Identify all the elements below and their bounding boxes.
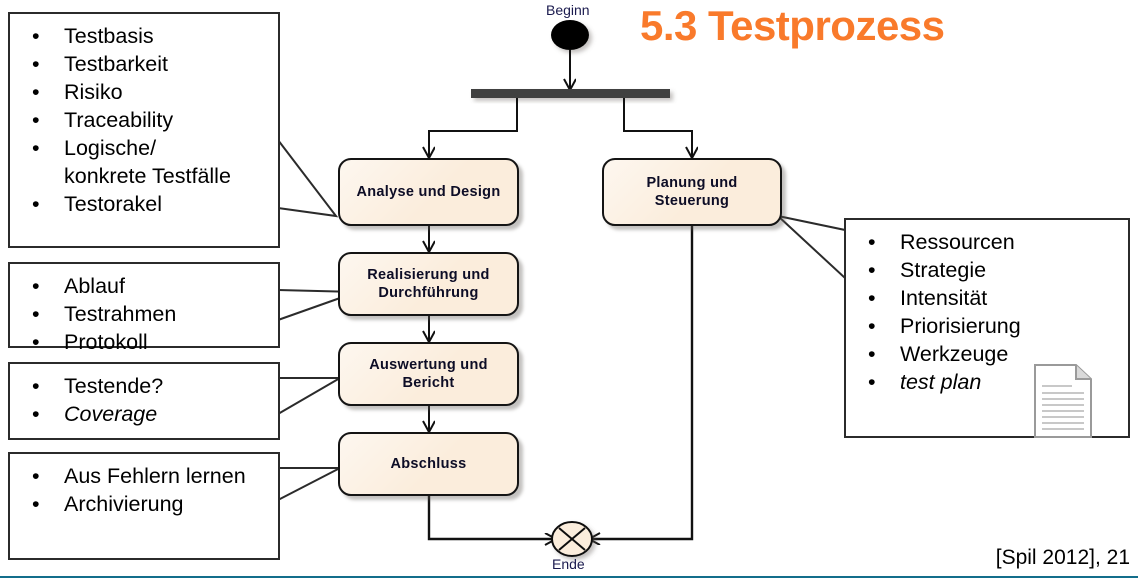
bullet-icon: • bbox=[32, 50, 40, 78]
flow-fork-to-analyse bbox=[429, 98, 517, 158]
bullet-icon: • bbox=[32, 134, 40, 162]
activity-label-line2: Steuerung bbox=[655, 193, 729, 209]
list-item-label: Coverage bbox=[64, 402, 157, 426]
tail-abschluss-note bbox=[278, 468, 340, 500]
activity-label: Analyse und Design bbox=[357, 183, 501, 201]
bullet-icon: • bbox=[32, 300, 40, 328]
list-item: •Risiko bbox=[18, 78, 268, 106]
activity-label-line1: Auswertung und bbox=[369, 357, 488, 373]
list-item-label: Testende? bbox=[64, 374, 163, 398]
list-item-label: Werkzeuge bbox=[900, 342, 1008, 366]
bullet-icon: • bbox=[32, 490, 40, 518]
document-icon bbox=[1032, 362, 1094, 440]
bullet-icon: • bbox=[32, 106, 40, 134]
list-item: •Archivierung bbox=[18, 490, 268, 518]
list-item-label: Testbasis bbox=[64, 24, 154, 48]
note-list: •Aus Fehlern lernen •Archivierung bbox=[18, 462, 268, 518]
list-item: •Strategie bbox=[854, 256, 1118, 284]
list-item-label: Ablauf bbox=[64, 274, 125, 298]
bullet-icon: • bbox=[32, 190, 40, 218]
list-item-label: Testbarkeit bbox=[64, 52, 168, 76]
note-realisierung: •Ablauf •Testrahmen •Protokoll bbox=[8, 262, 280, 348]
activity-label-line2: Durchführung bbox=[378, 285, 478, 301]
list-item: •Aus Fehlern lernen bbox=[18, 462, 268, 490]
list-item-label: Risiko bbox=[64, 80, 123, 104]
list-item: •Testbarkeit bbox=[18, 50, 268, 78]
flow-planung-to-ende bbox=[589, 226, 692, 539]
tail-analyse-note bbox=[278, 140, 336, 216]
flow-abschluss-to-ende bbox=[429, 496, 556, 539]
note-list: •Ablauf •Testrahmen •Protokoll bbox=[18, 272, 268, 356]
list-item-label: Archivierung bbox=[64, 492, 184, 516]
footer-divider bbox=[0, 576, 1138, 578]
slide-canvas: Analyse und Design Realisierung und Durc… bbox=[0, 0, 1138, 586]
list-item-label: konkrete Testfälle bbox=[64, 164, 231, 188]
activity-label-line2: Bericht bbox=[402, 375, 454, 391]
list-item: •Traceability bbox=[18, 106, 268, 134]
list-item-continuation: konkrete Testfälle bbox=[18, 162, 268, 190]
list-item: •Testorakel bbox=[18, 190, 268, 218]
list-item: •Intensität bbox=[854, 284, 1118, 312]
note-list: •Testende? •Coverage bbox=[18, 372, 268, 428]
bullet-icon: • bbox=[868, 284, 876, 312]
list-item: •Priorisierung bbox=[854, 312, 1118, 340]
bullet-icon: • bbox=[32, 22, 40, 50]
note-abschluss: •Aus Fehlern lernen •Archivierung bbox=[8, 452, 280, 560]
list-item: •Ablauf bbox=[18, 272, 268, 300]
list-item-label: Testorakel bbox=[64, 192, 162, 216]
bullet-icon: • bbox=[868, 228, 876, 256]
list-item-label: Traceability bbox=[64, 108, 173, 132]
activity-label: Abschluss bbox=[390, 455, 466, 473]
list-item: •Coverage bbox=[18, 400, 268, 428]
list-item-label: Logische/ bbox=[64, 136, 156, 160]
end-node bbox=[552, 522, 592, 556]
list-item-label: test plan bbox=[900, 370, 981, 394]
activity-planung-und-steuerung[interactable]: Planung und Steuerung bbox=[602, 158, 782, 226]
activity-abschluss[interactable]: Abschluss bbox=[338, 432, 519, 496]
list-item-label: Aus Fehlern lernen bbox=[64, 464, 246, 488]
start-node bbox=[551, 20, 589, 50]
list-item-label: Protokoll bbox=[64, 330, 148, 354]
activity-analyse-und-design[interactable]: Analyse und Design bbox=[338, 158, 519, 226]
note-list: •Testbasis •Testbarkeit •Risiko •Traceab… bbox=[18, 22, 268, 218]
bullet-icon: • bbox=[32, 400, 40, 428]
end-node-label: Ende bbox=[552, 556, 585, 572]
bullet-icon: • bbox=[32, 462, 40, 490]
bullet-icon: • bbox=[32, 272, 40, 300]
activity-label-line1: Realisierung und bbox=[367, 267, 489, 283]
bullet-icon: • bbox=[868, 256, 876, 284]
list-item-label: Intensität bbox=[900, 286, 987, 310]
tail-planung-note bbox=[778, 216, 845, 278]
footer-reference: [Spil 2012], 21 bbox=[996, 546, 1130, 570]
bullet-icon: • bbox=[868, 368, 876, 396]
list-item-label: Testrahmen bbox=[64, 302, 176, 326]
bullet-icon: • bbox=[868, 312, 876, 340]
activity-auswertung-und-bericht[interactable]: Auswertung und Bericht bbox=[338, 342, 519, 406]
note-auswertung: •Testende? •Coverage bbox=[8, 362, 280, 440]
list-item-label: Strategie bbox=[900, 258, 986, 282]
list-item-label: Ressourcen bbox=[900, 230, 1015, 254]
activity-label-line1: Planung und bbox=[646, 175, 737, 191]
start-node-label: Beginn bbox=[546, 2, 590, 18]
list-item: •Protokoll bbox=[18, 328, 268, 356]
note-analyse-und-design: •Testbasis •Testbarkeit •Risiko •Traceab… bbox=[8, 12, 280, 248]
fork-bar bbox=[471, 89, 670, 98]
list-item: •Ressourcen bbox=[854, 228, 1118, 256]
bullet-icon: • bbox=[32, 328, 40, 356]
bullet-icon: • bbox=[32, 372, 40, 400]
tail-auswertung-note bbox=[278, 378, 340, 414]
list-item: •Logische/ bbox=[18, 134, 268, 162]
bullet-icon: • bbox=[32, 78, 40, 106]
activity-realisierung-und-durchfuehrung[interactable]: Realisierung und Durchführung bbox=[338, 252, 519, 316]
list-item: •Testrahmen bbox=[18, 300, 268, 328]
list-item: •Testbasis bbox=[18, 22, 268, 50]
bullet-icon: • bbox=[868, 340, 876, 368]
flow-fork-to-planung bbox=[624, 98, 692, 158]
list-item-label: Priorisierung bbox=[900, 314, 1021, 338]
list-item: •Testende? bbox=[18, 372, 268, 400]
page-title: 5.3 Testprozess bbox=[640, 2, 945, 50]
